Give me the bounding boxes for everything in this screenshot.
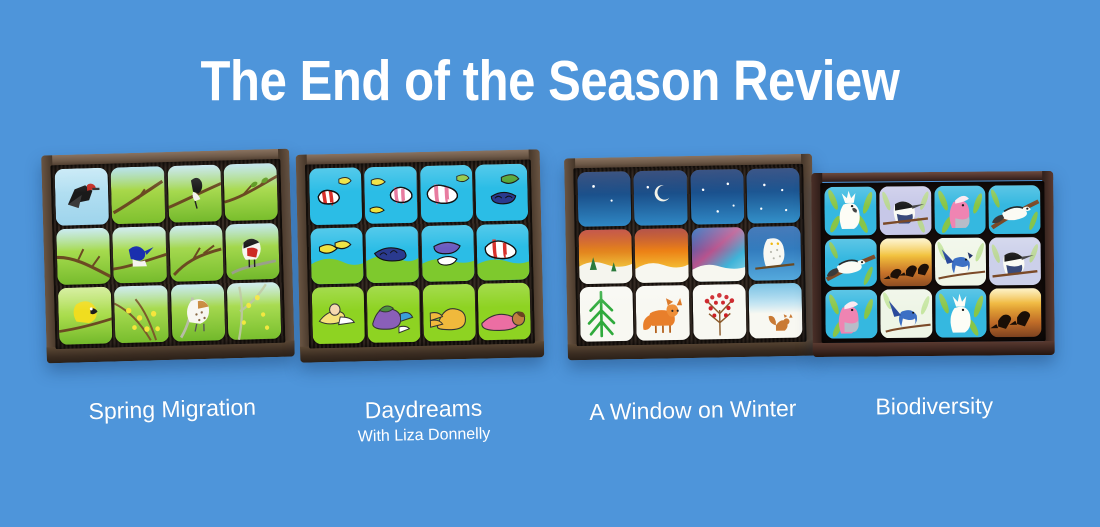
grosbeak-on-branch-art — [225, 223, 280, 281]
sunset-trees-snow-art — [578, 229, 632, 285]
kookaburra-art — [989, 237, 1041, 286]
chocolate-box[interactable] — [811, 171, 1055, 357]
dawn-snow-art — [691, 227, 745, 283]
chocolate-piece[interactable] — [477, 283, 531, 341]
winterberries-art — [692, 284, 746, 340]
chocolate-piece[interactable] — [114, 285, 169, 343]
branch-green-art — [56, 227, 111, 285]
chocolate-piece[interactable] — [475, 164, 529, 222]
box-tray — [50, 159, 285, 349]
night-sky-moon-art — [634, 170, 688, 226]
chocolate-piece[interactable] — [366, 226, 420, 284]
person-blonde-lying-art — [312, 287, 366, 345]
forsythia-art — [114, 285, 169, 343]
box-tray — [305, 159, 535, 348]
kangaroos-sunset-art — [880, 238, 932, 287]
collection-a-window-on-winter[interactable]: A Window on Winter — [564, 154, 816, 365]
branch-green-art — [111, 166, 166, 224]
person-purple-lying-art — [367, 285, 421, 343]
chocolate-piece[interactable] — [824, 186, 876, 235]
chocolate-piece[interactable] — [367, 285, 421, 343]
hill-yellow-cloud-art — [310, 227, 364, 285]
chocolate-piece[interactable] — [690, 169, 744, 225]
chocolate-piece[interactable] — [56, 227, 111, 285]
chocolate-box[interactable] — [41, 149, 295, 364]
chocolate-piece[interactable] — [309, 167, 363, 225]
chocolate-grid — [50, 159, 285, 349]
chocolate-piece[interactable] — [634, 170, 688, 226]
chocolate-piece[interactable] — [167, 165, 222, 223]
collection-caption: Spring Migration — [48, 393, 297, 425]
chocolate-piece[interactable] — [989, 237, 1041, 286]
chocolate-piece[interactable] — [170, 284, 225, 342]
chocolate-piece[interactable] — [935, 289, 987, 338]
chocolate-piece[interactable] — [58, 287, 113, 345]
night-sky-stars2-art — [746, 168, 800, 224]
chocolate-piece[interactable] — [934, 237, 986, 286]
hill-red-cloud-art — [476, 223, 530, 281]
thrush-on-branch-art — [170, 284, 225, 342]
chocolate-grid — [820, 181, 1045, 343]
chocolate-box[interactable] — [296, 149, 545, 362]
collection-caption: Daydreams — [301, 394, 546, 425]
woodpecker-on-blue-art — [55, 168, 110, 226]
chocolate-piece[interactable] — [880, 238, 932, 287]
chocolate-piece[interactable] — [825, 290, 877, 339]
chocolate-piece[interactable] — [748, 283, 802, 339]
chocolate-piece[interactable] — [934, 186, 986, 235]
chocolate-piece[interactable] — [111, 166, 166, 224]
collection-spring-migration[interactable]: Spring Migration — [41, 149, 295, 366]
chocolate-piece[interactable] — [989, 288, 1041, 337]
chocolate-piece[interactable] — [692, 284, 746, 340]
snowy-owl-art — [747, 226, 801, 282]
chocolate-piece[interactable] — [879, 186, 931, 235]
night-sky-stars-art — [690, 169, 744, 225]
sugar-glider-art — [989, 185, 1041, 234]
collection-subcaption: With Liza Donnelly — [302, 424, 546, 447]
blossom-branch-art — [227, 282, 282, 340]
poster-canvas: The End of the Season Review — [0, 0, 1100, 527]
collection-daydreams[interactable]: Daydreams With Liza Donnelly — [296, 149, 545, 364]
galah-art — [934, 186, 986, 235]
cloud-pink-stripe-yellow-art — [364, 166, 418, 224]
person-yellow-lying-art — [422, 284, 476, 342]
sunset-snow-art — [635, 228, 689, 284]
collection-biodiversity[interactable]: Biodiversity — [811, 171, 1055, 359]
squirrel-art — [748, 283, 802, 339]
galah-art — [825, 290, 877, 339]
chocolate-piece[interactable] — [747, 226, 801, 282]
cockatoo-art — [824, 186, 876, 235]
cloud-pink-wide-art — [419, 165, 473, 223]
kangaroos-sunset-art — [989, 288, 1041, 337]
chocolate-piece[interactable] — [746, 168, 800, 224]
chocolate-piece[interactable] — [635, 228, 689, 284]
sugar-glider-art — [825, 238, 877, 287]
fairy-wren-art — [880, 289, 932, 338]
hill-navy-cloud-art — [366, 226, 420, 284]
box-tray — [573, 164, 806, 346]
oriole-on-branch-art — [167, 165, 222, 223]
chocolate-piece[interactable] — [577, 171, 631, 227]
collection-caption: A Window on Winter — [569, 396, 817, 426]
chocolate-grid — [305, 159, 535, 348]
hill-purple-cloud-art — [421, 224, 475, 282]
box-tray — [820, 181, 1045, 343]
chocolate-piece[interactable] — [825, 238, 877, 287]
chocolate-piece[interactable] — [112, 226, 167, 284]
pine-tree-art — [580, 286, 634, 342]
chocolate-grid — [573, 164, 806, 346]
cloud-red-stripe-art — [309, 167, 363, 225]
chocolate-piece[interactable] — [223, 163, 278, 221]
chocolate-piece[interactable] — [169, 224, 224, 282]
chocolate-piece[interactable] — [225, 223, 280, 281]
cloud-green-blue-art — [475, 164, 529, 222]
chocolate-piece[interactable] — [227, 282, 282, 340]
chocolate-piece[interactable] — [989, 185, 1041, 234]
page-title: The End of the Season Review — [77, 52, 1023, 112]
chocolate-piece[interactable] — [880, 289, 932, 338]
collection-caption: Biodiversity — [813, 393, 1055, 420]
chocolate-piece[interactable] — [419, 165, 473, 223]
chocolate-piece[interactable] — [422, 284, 476, 342]
chocolate-piece[interactable] — [310, 227, 364, 285]
kookaburra-art — [879, 186, 931, 235]
chocolate-piece[interactable] — [691, 227, 745, 283]
chocolate-box[interactable] — [564, 154, 816, 361]
warbler-yellow-art — [58, 287, 113, 345]
chocolate-piece[interactable] — [421, 224, 475, 282]
chocolate-piece[interactable] — [580, 286, 634, 342]
branch-green-art — [169, 224, 224, 282]
night-sky-star-art — [577, 171, 631, 227]
bluebird-on-branch-art — [112, 226, 167, 284]
red-fox-art — [636, 285, 690, 341]
box-front-edge — [813, 341, 1055, 357]
chocolate-piece[interactable] — [636, 285, 690, 341]
chocolate-piece[interactable] — [364, 166, 418, 224]
person-pink-lying-art — [477, 283, 531, 341]
chocolate-piece[interactable] — [55, 168, 110, 226]
chocolate-piece[interactable] — [312, 287, 366, 345]
chocolate-piece[interactable] — [476, 223, 530, 281]
chocolate-piece[interactable] — [578, 229, 632, 285]
cockatoo-art — [935, 289, 987, 338]
fairy-wren-art — [934, 237, 986, 286]
branch-leaves-art — [223, 163, 278, 221]
